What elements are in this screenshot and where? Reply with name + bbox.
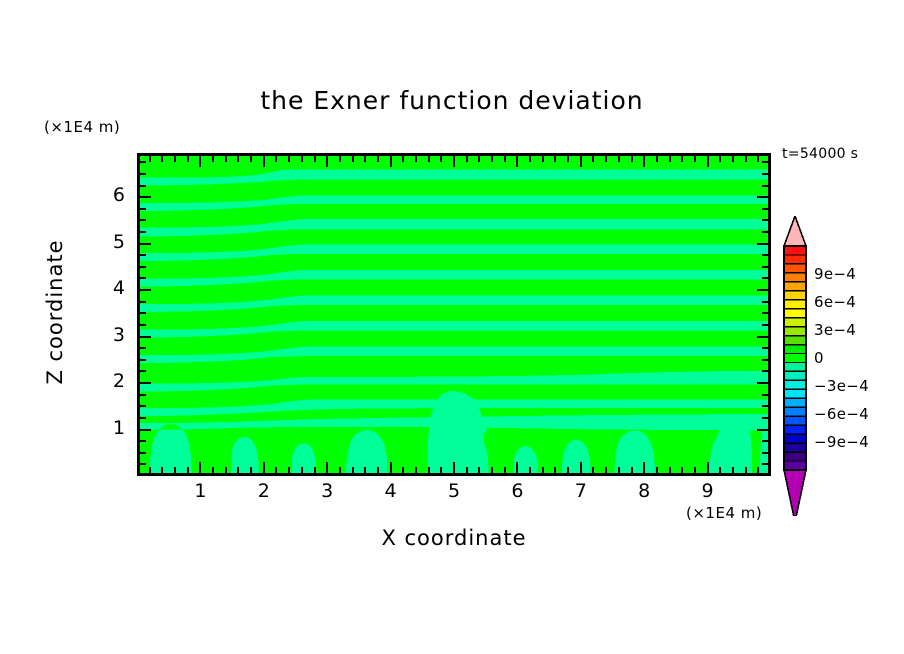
x-axis-major-tick	[390, 462, 392, 473]
y-axis-tick-label: 4	[85, 277, 125, 299]
x-axis-minor-tick	[478, 467, 480, 473]
x-axis-minor-tick-top	[656, 156, 658, 162]
x-axis-minor-tick-top	[364, 156, 366, 162]
y-axis-minor-tick-right	[762, 359, 768, 361]
y-axis-minor-tick	[140, 219, 146, 221]
x-axis-minor-tick	[339, 467, 341, 473]
x-axis-minor-tick	[187, 467, 189, 473]
x-axis-minor-tick-top	[339, 156, 341, 162]
y-axis-major-tick	[140, 429, 151, 431]
x-axis-minor-tick	[352, 467, 354, 473]
x-axis-minor-tick-top	[301, 156, 303, 162]
colorbar-tick-label: −6e−4	[814, 405, 869, 423]
x-axis-minor-tick-top	[631, 156, 633, 162]
y-axis-minor-tick	[140, 417, 146, 419]
x-axis-minor-tick-top	[592, 156, 594, 162]
colorbar-band	[784, 282, 806, 292]
x-axis-tick-label: 1	[180, 480, 220, 502]
y-axis-minor-tick	[140, 301, 146, 303]
x-axis-minor-tick-top	[237, 156, 239, 162]
x-axis-minor-tick-top	[504, 156, 506, 162]
colorbar-tick-label: 0	[814, 349, 824, 367]
colorbar-tick-label: 9e−4	[814, 265, 856, 283]
x-axis-tick-label: 2	[244, 480, 284, 502]
x-axis-minor-tick	[174, 467, 176, 473]
y-axis-minor-tick-right	[762, 254, 768, 256]
x-axis-tick-label: 7	[561, 480, 601, 502]
y-axis-minor-tick-right	[762, 312, 768, 314]
y-axis-minor-tick-right	[762, 452, 768, 454]
x-axis-major-tick	[580, 462, 582, 473]
x-axis-minor-tick-top	[187, 156, 189, 162]
y-axis-major-tick	[140, 289, 151, 291]
y-axis-major-tick	[140, 196, 151, 198]
y-axis-minor-tick-right	[762, 347, 768, 349]
x-axis-minor-tick	[237, 467, 239, 473]
x-axis-minor-tick-top	[757, 156, 759, 162]
x-axis-minor-tick	[631, 467, 633, 473]
y-axis-minor-tick	[140, 324, 146, 326]
y-axis-minor-tick	[140, 254, 146, 256]
y-axis-minor-tick-right	[762, 417, 768, 419]
x-axis-tick-label: 6	[497, 480, 537, 502]
colorbar-under-arrow	[784, 470, 806, 516]
x-axis-minor-tick	[554, 467, 556, 473]
x-axis-minor-tick	[694, 467, 696, 473]
x-axis-minor-tick	[719, 467, 721, 473]
colorbar-band	[784, 425, 806, 435]
colorbar-tick-label: 3e−4	[814, 321, 856, 339]
x-axis-minor-tick	[161, 467, 163, 473]
x-axis-major-tick-top	[390, 156, 392, 167]
x-axis-tick-label: 5	[434, 480, 474, 502]
y-axis-minor-tick	[140, 208, 146, 210]
colorbar-band	[784, 398, 806, 408]
x-axis-minor-tick	[250, 467, 252, 473]
x-axis-minor-tick	[681, 467, 683, 473]
colorbar-band	[784, 443, 806, 453]
x-axis-minor-tick-top	[377, 156, 379, 162]
x-axis-minor-tick-top	[745, 156, 747, 162]
y-axis-minor-tick-right	[762, 370, 768, 372]
x-axis-minor-tick-top	[402, 156, 404, 162]
x-axis-major-tick	[643, 462, 645, 473]
x-axis-minor-tick	[745, 467, 747, 473]
x-axis-minor-tick-top	[618, 156, 620, 162]
x-axis-minor-tick-top	[415, 156, 417, 162]
x-axis-minor-tick	[149, 467, 151, 473]
x-axis-major-tick	[453, 462, 455, 473]
x-axis-tick-label: 8	[624, 480, 664, 502]
x-axis-minor-tick-top	[478, 156, 480, 162]
x-axis-minor-tick	[567, 467, 569, 473]
colorbar-band	[784, 246, 806, 256]
x-axis-minor-tick-top	[149, 156, 151, 162]
x-axis-minor-tick	[288, 467, 290, 473]
y-axis-minor-tick-right	[762, 463, 768, 465]
x-axis-minor-tick	[314, 467, 316, 473]
x-axis-minor-tick-top	[440, 156, 442, 162]
y-axis-minor-tick-right	[762, 440, 768, 442]
x-axis-minor-tick-top	[288, 156, 290, 162]
x-axis-major-tick	[707, 462, 709, 473]
colorbar-band	[784, 452, 806, 462]
x-axis-minor-tick-top	[491, 156, 493, 162]
x-axis-minor-tick	[504, 467, 506, 473]
y-axis-minor-tick	[140, 277, 146, 279]
colorbar-band	[784, 354, 806, 364]
colorbar-band	[784, 336, 806, 346]
x-axis-minor-tick	[415, 467, 417, 473]
x-axis-minor-tick	[669, 467, 671, 473]
y-axis-minor-tick-right	[762, 301, 768, 303]
x-axis-minor-tick-top	[719, 156, 721, 162]
y-axis-minor-tick-right	[762, 219, 768, 221]
y-axis-minor-tick	[140, 440, 146, 442]
x-axis-minor-tick	[542, 467, 544, 473]
y-axis-minor-tick	[140, 405, 146, 407]
chart-title: the Exner function deviation	[0, 86, 904, 115]
x-axis-major-tick	[516, 462, 518, 473]
x-axis-major-tick-top	[707, 156, 709, 167]
y-axis-minor-tick	[140, 161, 146, 163]
y-axis-minor-tick-right	[762, 208, 768, 210]
x-axis-minor-tick	[301, 467, 303, 473]
x-axis-minor-tick-top	[542, 156, 544, 162]
x-axis-minor-tick-top	[212, 156, 214, 162]
colorbar-band	[784, 389, 806, 399]
y-axis-minor-tick-right	[762, 173, 768, 175]
x-axis-minor-tick-top	[669, 156, 671, 162]
colorbar-band	[784, 434, 806, 444]
x-axis-minor-tick	[592, 467, 594, 473]
colorbar-band	[784, 255, 806, 265]
x-axis-minor-tick-top	[681, 156, 683, 162]
y-axis-major-tick-right	[757, 196, 768, 198]
x-axis-minor-tick	[440, 467, 442, 473]
y-axis-minor-tick-right	[762, 231, 768, 233]
colorbar-over-arrow	[784, 216, 806, 246]
x-axis-minor-tick	[225, 467, 227, 473]
x-axis-minor-tick	[529, 467, 531, 473]
y-axis-tick-label: 6	[85, 184, 125, 206]
y-axis-minor-tick	[140, 452, 146, 454]
x-axis-major-tick-top	[326, 156, 328, 167]
x-axis-major-tick-top	[516, 156, 518, 167]
y-axis-minor-tick	[140, 347, 146, 349]
colorbar-band	[784, 362, 806, 372]
colorbar: 9e−46e−43e−40−3e−4−6e−4−9e−4	[780, 216, 900, 516]
x-axis-major-tick-top	[453, 156, 455, 167]
colorbar-tick-label: −9e−4	[814, 433, 869, 451]
y-axis-major-tick	[140, 243, 151, 245]
x-axis-major-tick	[263, 462, 265, 473]
y-axis-minor-tick-right	[762, 405, 768, 407]
x-axis-major-tick	[326, 462, 328, 473]
x-axis-minor-tick-top	[567, 156, 569, 162]
x-axis-tick-label: 3	[307, 480, 347, 502]
x-axis-major-tick	[199, 462, 201, 473]
y-axis-major-tick-right	[757, 289, 768, 291]
colorbar-band	[784, 407, 806, 417]
y-axis-title: Z coordinate	[43, 212, 67, 412]
y-axis-minor-tick-right	[762, 185, 768, 187]
y-axis-minor-tick-right	[762, 266, 768, 268]
y-axis-unit-label: (×1E4 m)	[44, 118, 120, 136]
x-axis-minor-tick	[757, 467, 759, 473]
y-axis-minor-tick	[140, 394, 146, 396]
x-axis-minor-tick-top	[314, 156, 316, 162]
x-axis-minor-tick-top	[250, 156, 252, 162]
x-axis-minor-tick-top	[529, 156, 531, 162]
x-axis-minor-tick-top	[225, 156, 227, 162]
y-axis-major-tick-right	[757, 243, 768, 245]
x-axis-major-tick-top	[580, 156, 582, 167]
y-axis-major-tick-right	[757, 429, 768, 431]
x-axis-minor-tick-top	[275, 156, 277, 162]
y-axis-minor-tick	[140, 185, 146, 187]
x-axis-title: X coordinate	[137, 526, 771, 550]
x-axis-minor-tick	[732, 467, 734, 473]
x-axis-minor-tick-top	[605, 156, 607, 162]
x-axis-major-tick-top	[199, 156, 201, 167]
colorbar-band	[784, 318, 806, 328]
y-axis-minor-tick-right	[762, 324, 768, 326]
x-axis-minor-tick	[377, 467, 379, 473]
y-axis-tick-label: 3	[85, 324, 125, 346]
y-axis-major-tick	[140, 382, 151, 384]
x-axis-major-tick-top	[263, 156, 265, 167]
y-axis-minor-tick	[140, 359, 146, 361]
x-axis-major-tick-top	[643, 156, 645, 167]
x-axis-minor-tick-top	[466, 156, 468, 162]
x-axis-minor-tick	[656, 467, 658, 473]
x-axis-minor-tick	[212, 467, 214, 473]
x-axis-minor-tick	[618, 467, 620, 473]
x-axis-minor-tick-top	[554, 156, 556, 162]
colorbar-band	[784, 273, 806, 283]
colorbar-band	[784, 309, 806, 319]
x-axis-minor-tick-top	[174, 156, 176, 162]
x-axis-minor-tick	[402, 467, 404, 473]
y-axis-major-tick-right	[757, 382, 768, 384]
colorbar-band	[784, 300, 806, 310]
colorbar-tick-label: 6e−4	[814, 293, 856, 311]
x-axis-minor-tick-top	[428, 156, 430, 162]
y-axis-major-tick-right	[757, 336, 768, 338]
y-axis-major-tick	[140, 336, 151, 338]
x-axis-tick-label: 4	[371, 480, 411, 502]
y-axis-tick-label: 2	[85, 370, 125, 392]
x-axis-minor-tick-top	[161, 156, 163, 162]
time-annotation: t=54000 s	[782, 146, 858, 162]
y-axis-minor-tick	[140, 370, 146, 372]
y-axis-tick-label: 1	[85, 417, 125, 439]
x-axis-minor-tick	[428, 467, 430, 473]
x-axis-minor-tick-top	[732, 156, 734, 162]
y-axis-minor-tick-right	[762, 394, 768, 396]
colorbar-band	[784, 380, 806, 390]
colorbar-band	[784, 264, 806, 274]
y-axis-minor-tick	[140, 173, 146, 175]
y-axis-minor-tick	[140, 312, 146, 314]
colorbar-band	[784, 416, 806, 426]
colorbar-tick-label: −3e−4	[814, 377, 869, 395]
y-axis-minor-tick-right	[762, 277, 768, 279]
colorbar-band	[784, 371, 806, 381]
x-axis-unit-label: (×1E4 m)	[686, 504, 762, 522]
x-axis-minor-tick	[491, 467, 493, 473]
colorbar-band	[784, 327, 806, 337]
x-axis-minor-tick-top	[352, 156, 354, 162]
colorbar-band	[784, 291, 806, 301]
x-axis-minor-tick	[275, 467, 277, 473]
x-axis-tick-label: 9	[688, 480, 728, 502]
y-axis-minor-tick	[140, 266, 146, 268]
y-axis-tick-label: 5	[85, 231, 125, 253]
contour-field	[140, 156, 768, 473]
y-axis-minor-tick	[140, 463, 146, 465]
y-axis-minor-tick-right	[762, 161, 768, 163]
x-axis-minor-tick	[605, 467, 607, 473]
colorbar-band	[784, 345, 806, 355]
x-axis-minor-tick-top	[694, 156, 696, 162]
y-axis-minor-tick	[140, 231, 146, 233]
x-axis-minor-tick	[466, 467, 468, 473]
plot-area	[137, 153, 771, 476]
chart-root: the Exner function deviation (×1E4 m) (×…	[0, 0, 904, 654]
x-axis-minor-tick	[364, 467, 366, 473]
